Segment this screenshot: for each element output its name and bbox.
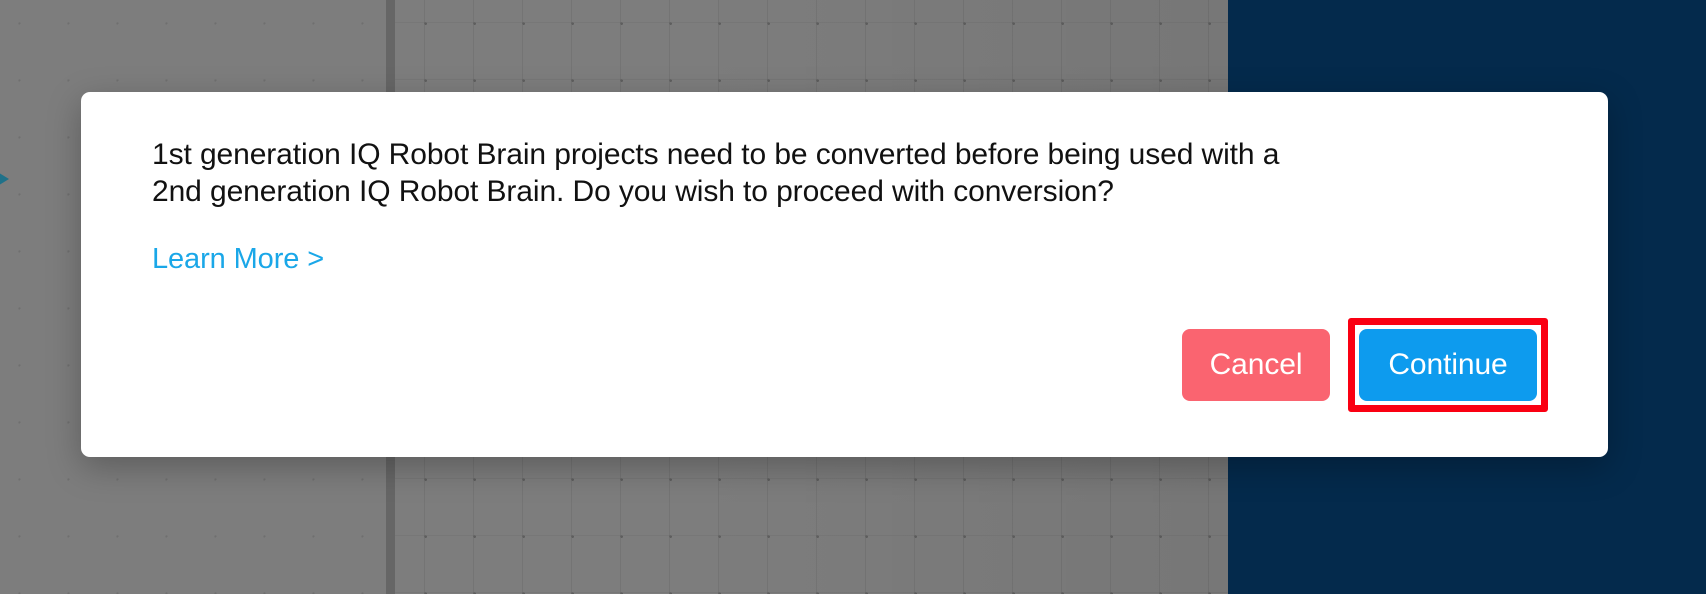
dialog-body: 1st generation IQ Robot Brain projects n… — [152, 137, 1548, 276]
conversion-dialog: 1st generation IQ Robot Brain projects n… — [81, 92, 1608, 457]
app-root: 1st generation IQ Robot Brain projects n… — [0, 0, 1706, 594]
cancel-button[interactable]: Cancel — [1182, 329, 1330, 401]
dialog-actions: Cancel Continue — [1182, 318, 1548, 412]
dialog-message: 1st generation IQ Robot Brain projects n… — [152, 137, 1332, 210]
continue-button-highlight: Continue — [1348, 318, 1548, 412]
learn-more-link[interactable]: Learn More > — [152, 244, 324, 276]
continue-button[interactable]: Continue — [1359, 329, 1537, 401]
